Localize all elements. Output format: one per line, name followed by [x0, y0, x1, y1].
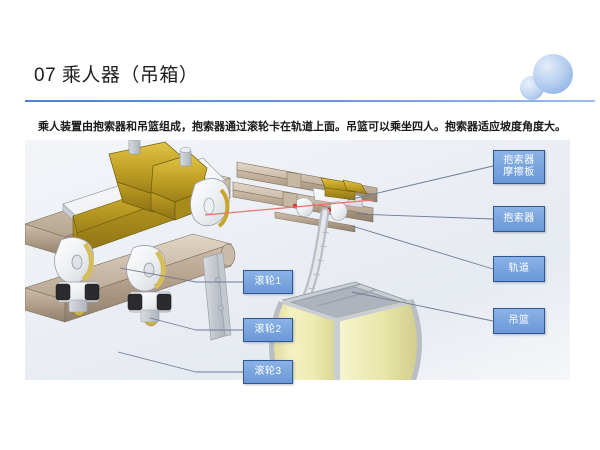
label-roller-2[interactable]: 滚轮2: [243, 318, 293, 342]
decorative-circle-large: [533, 54, 573, 94]
label-track-text: 轨道: [509, 263, 530, 275]
slide-description: 乘人装置由抱索器和吊篮组成，抱索器通过滚轮卡在轨道上面。吊篮可以乘坐四人。抱索器…: [38, 118, 566, 134]
label-cabin[interactable]: 吊篮: [493, 308, 545, 334]
slide-root: 07 乘人器（吊箱） 乘人装置由抱索器和吊篮组成，抱索器通过滚轮卡在轨道上面。吊…: [0, 0, 600, 450]
page-title: 07 乘人器（吊箱）: [34, 60, 198, 87]
label-roller-1[interactable]: 滚轮1: [243, 270, 293, 294]
label-friction-plate[interactable]: 抱索器 摩擦板: [493, 150, 545, 184]
label-roller-2-text: 滚轮2: [254, 324, 281, 336]
clamp-bolt: [180, 147, 191, 166]
label-friction-plate-line1: 抱索器: [503, 155, 535, 167]
header-decoration: [520, 38, 600, 108]
clamp-bolt: [129, 140, 140, 154]
friction-plate-jaw: [191, 178, 230, 226]
label-roller-3[interactable]: 滚轮3: [243, 360, 293, 384]
title-divider: [25, 100, 595, 102]
label-gripper[interactable]: 抱索器: [493, 206, 545, 232]
label-roller-1-text: 滚轮1: [254, 276, 281, 288]
illustration-stage: [25, 140, 570, 380]
cableway-carrier-cad-diagram: [25, 140, 570, 380]
label-roller-3-text: 滚轮3: [254, 366, 281, 378]
label-friction-plate-line2: 摩擦板: [503, 167, 535, 179]
label-gripper-text: 抱索器: [503, 213, 535, 225]
cabin-body: [271, 282, 419, 380]
label-cabin-text: 吊篮: [509, 315, 530, 327]
label-track[interactable]: 轨道: [493, 256, 545, 282]
